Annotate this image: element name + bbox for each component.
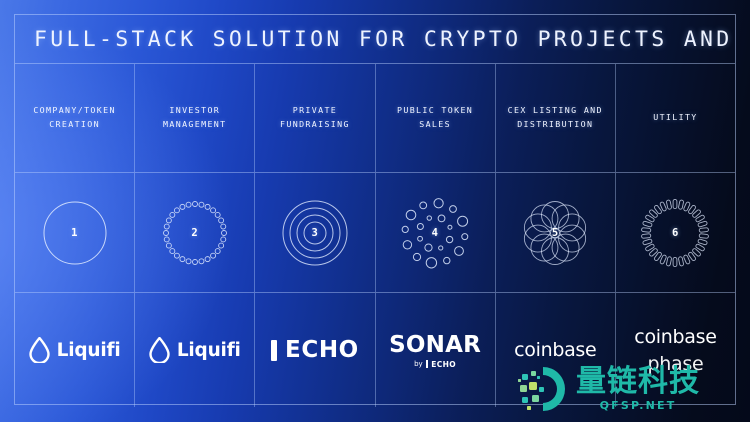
water-droplet-icon [149,337,170,363]
logo-cell-3[interactable]: ECHO [255,293,375,407]
header-label-1: COMPANY/TOKEN CREATION [27,104,122,131]
liquifi-wordmark: Liquifi [177,340,241,361]
column-header-cell-4: PUBLIC TOKEN SALES [376,64,496,172]
sonar-wordmark: SONAR [389,332,481,358]
column-header-cell-3: PRIVATE FUNDRAISING [255,64,375,172]
icon-number-3: 3 [274,192,356,274]
header-label-5: CEX LISTING AND DISTRIBUTION [502,104,609,131]
header-line-5b: DISTRIBUTION [517,119,593,129]
header-label-4: PUBLIC TOKEN SALES [391,104,479,131]
icon-cell-3: 3 [255,173,375,292]
header-line-5a: CEX LISTING AND [508,105,603,115]
column-header-cell-6: UTILITY [616,64,735,172]
echo-logo[interactable]: ECHO [271,337,359,363]
scattered-circles-icon: 4 [394,192,476,274]
logo-cell-6[interactable]: coinbase phase [616,293,735,407]
sonar-by-brand: ECHO [431,360,456,369]
icon-number-1: 1 [34,192,116,274]
liquifi-wordmark: Liquifi [57,340,121,361]
logo-cell-1[interactable]: Liquifi [15,293,135,407]
header-line-2b: MANAGEMENT [163,119,226,129]
sonar-logo[interactable]: SONAR by ECHO [389,332,481,369]
echo-bar-icon [271,340,277,361]
icon-cell-6: 6 [616,173,735,292]
sonar-by-label: by [414,360,423,368]
header-line-1a: COMPANY/TOKEN [33,105,116,115]
logo-row: Liquifi Liquifi ECHO SONA [15,293,735,407]
coinbase-wordmark: coinbase [634,326,716,348]
radial-capsules-icon: 6 [634,192,716,274]
header-line-1b: CREATION [49,119,100,129]
header-label-2: INVESTOR MANAGEMENT [157,104,232,131]
single-circle-icon: 1 [34,192,116,274]
coinbase-secondary-wordmark: phase [648,353,704,375]
overlapping-circles-flower-icon: 5 [514,192,596,274]
solution-grid: FULL-STACK SOLUTION FOR CRYPTO PROJECTS … [14,14,736,405]
dotted-ring-icon: 2 [154,192,236,274]
coinbase-logo[interactable]: coinbase phase [634,326,716,375]
icon-row: 1 2 3 [15,173,735,293]
header-line-4b: SALES [419,119,451,129]
logo-cell-5[interactable]: coinbase [496,293,616,407]
sonar-byline: by ECHO [414,360,456,369]
icon-number-2: 2 [154,192,236,274]
icon-number-4: 4 [394,192,476,274]
liquifi-logo[interactable]: Liquifi [149,337,241,363]
logo-cell-2[interactable]: Liquifi [135,293,255,407]
column-header-cell-1: COMPANY/TOKEN CREATION [15,64,135,172]
icon-cell-4: 4 [376,173,496,292]
icon-cell-5: 5 [496,173,616,292]
column-header-cell-2: INVESTOR MANAGEMENT [135,64,255,172]
icon-cell-1: 1 [15,173,135,292]
header-line-3a: PRIVATE [293,105,337,115]
column-header-cell-5: CEX LISTING AND DISTRIBUTION [496,64,616,172]
page-title: FULL-STACK SOLUTION FOR CRYPTO PROJECTS … [15,27,735,52]
slide-canvas: FULL-STACK SOLUTION FOR CRYPTO PROJECTS … [0,0,750,422]
header-row: COMPANY/TOKEN CREATION INVESTOR MANAGEME… [15,64,735,173]
header-label-6: UTILITY [647,111,703,125]
concentric-circles-icon: 3 [274,192,356,274]
coinbase-wordmark: coinbase [514,339,596,361]
header-label-3: PRIVATE FUNDRAISING [274,104,356,131]
logo-cell-4[interactable]: SONAR by ECHO [376,293,496,407]
icon-cell-2: 2 [135,173,255,292]
echo-bar-icon [426,360,429,368]
header-line-3b: FUNDRAISING [280,119,350,129]
header-line-4a: PUBLIC TOKEN [397,105,473,115]
echo-wordmark: ECHO [285,337,359,363]
icon-number-5: 5 [514,192,596,274]
liquifi-logo[interactable]: Liquifi [29,337,121,363]
title-row: FULL-STACK SOLUTION FOR CRYPTO PROJECTS … [15,15,735,64]
water-droplet-icon [29,337,50,363]
icon-number-6: 6 [634,192,716,274]
header-line-2a: INVESTOR [169,105,220,115]
header-line-6a: UTILITY [653,112,697,122]
